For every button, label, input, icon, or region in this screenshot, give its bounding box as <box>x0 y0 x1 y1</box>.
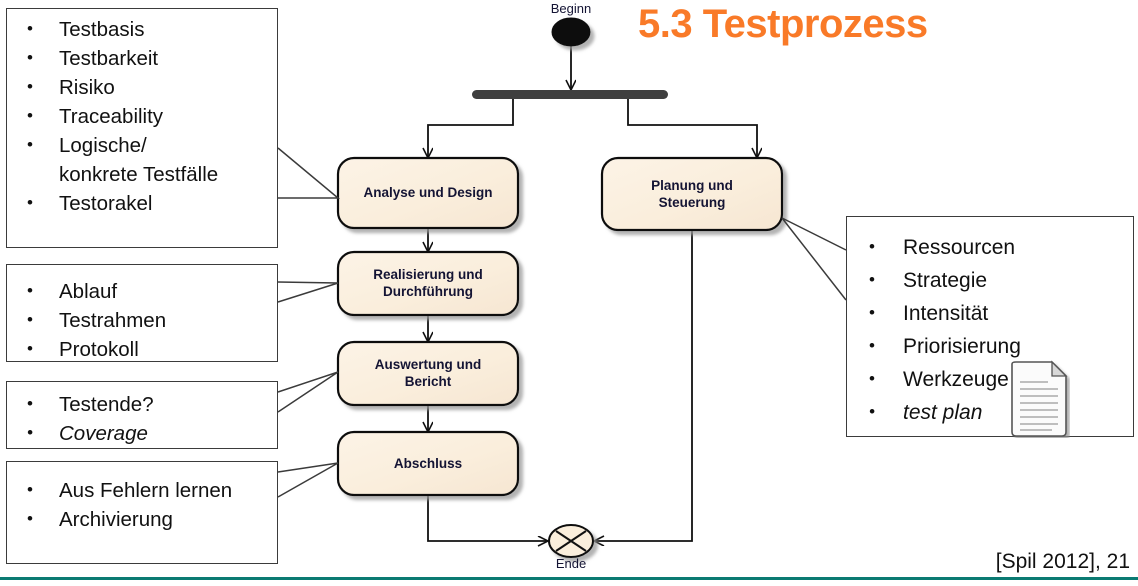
list-item: Testende? <box>17 390 267 419</box>
list-item: Testrahmen <box>17 306 267 335</box>
end-node <box>549 525 593 557</box>
tail-note-4 <box>278 463 338 497</box>
list-item: Ablauf <box>17 277 267 306</box>
callout-note-auswertung: Testende? Coverage <box>6 381 278 449</box>
note-list: Testende? Coverage <box>17 390 267 448</box>
end-node-label: Ende <box>521 556 621 571</box>
list-item: konkrete Testfälle <box>17 160 267 189</box>
activity-node-realisierung[interactable] <box>338 252 518 315</box>
document-icon <box>1008 360 1070 438</box>
edge-fork-to-analyse <box>428 98 513 158</box>
list-item: Intensität <box>857 297 1123 330</box>
edge-planung-to-ende <box>594 230 692 541</box>
list-item: Werkzeuge <box>857 363 1123 396</box>
callout-note-planung: Ressourcen Strategie Intensität Priorisi… <box>846 216 1134 437</box>
fork-bar <box>472 90 668 99</box>
edge-fork-to-planung <box>628 98 757 158</box>
note-list: Ressourcen Strategie Intensität Priorisi… <box>857 231 1123 429</box>
list-item: Priorisierung <box>857 330 1123 363</box>
edge-abschluss-to-ende <box>428 495 548 541</box>
activity-node-analyse[interactable] <box>338 158 518 228</box>
activity-nodes <box>338 158 782 495</box>
slide-canvas: 5.3 Testprozess <box>0 0 1138 586</box>
start-node-label: Beginn <box>521 1 621 16</box>
note-list: Ablauf Testrahmen Protokoll <box>17 277 267 364</box>
list-item: Protokoll <box>17 335 267 364</box>
list-item: Testbasis <box>17 15 267 44</box>
start-node <box>552 18 590 46</box>
list-item: Archivierung <box>17 505 267 534</box>
list-item: Logische/ <box>17 131 267 160</box>
callout-note-analyse: Testbasis Testbarkeit Risiko Traceabilit… <box>6 8 278 248</box>
footer-citation: [Spil 2012], 21 <box>996 550 1130 574</box>
list-item: test plan <box>857 396 1123 429</box>
activity-node-planung[interactable] <box>602 158 782 230</box>
tail-note-1 <box>278 148 338 198</box>
list-item: Testbarkeit <box>17 44 267 73</box>
list-item: Coverage <box>17 419 267 448</box>
list-item: Traceability <box>17 102 267 131</box>
note-list: Testbasis Testbarkeit Risiko Traceabilit… <box>17 15 267 218</box>
tail-note-3 <box>278 372 338 412</box>
activity-node-auswertung[interactable] <box>338 342 518 405</box>
list-item: Ressourcen <box>857 231 1123 264</box>
footer-divider <box>0 577 1138 580</box>
tail-note-2 <box>278 282 338 302</box>
list-item: Risiko <box>17 73 267 102</box>
callout-note-realisierung: Ablauf Testrahmen Protokoll <box>6 264 278 362</box>
list-item: Testorakel <box>17 189 267 218</box>
callout-note-abschluss: Aus Fehlern lernen Archivierung <box>6 461 278 564</box>
tail-note-right <box>782 218 846 300</box>
list-item: Aus Fehlern lernen <box>17 476 267 505</box>
activity-node-abschluss[interactable] <box>338 432 518 495</box>
note-list: Aus Fehlern lernen Archivierung <box>17 476 267 534</box>
list-item: Strategie <box>857 264 1123 297</box>
